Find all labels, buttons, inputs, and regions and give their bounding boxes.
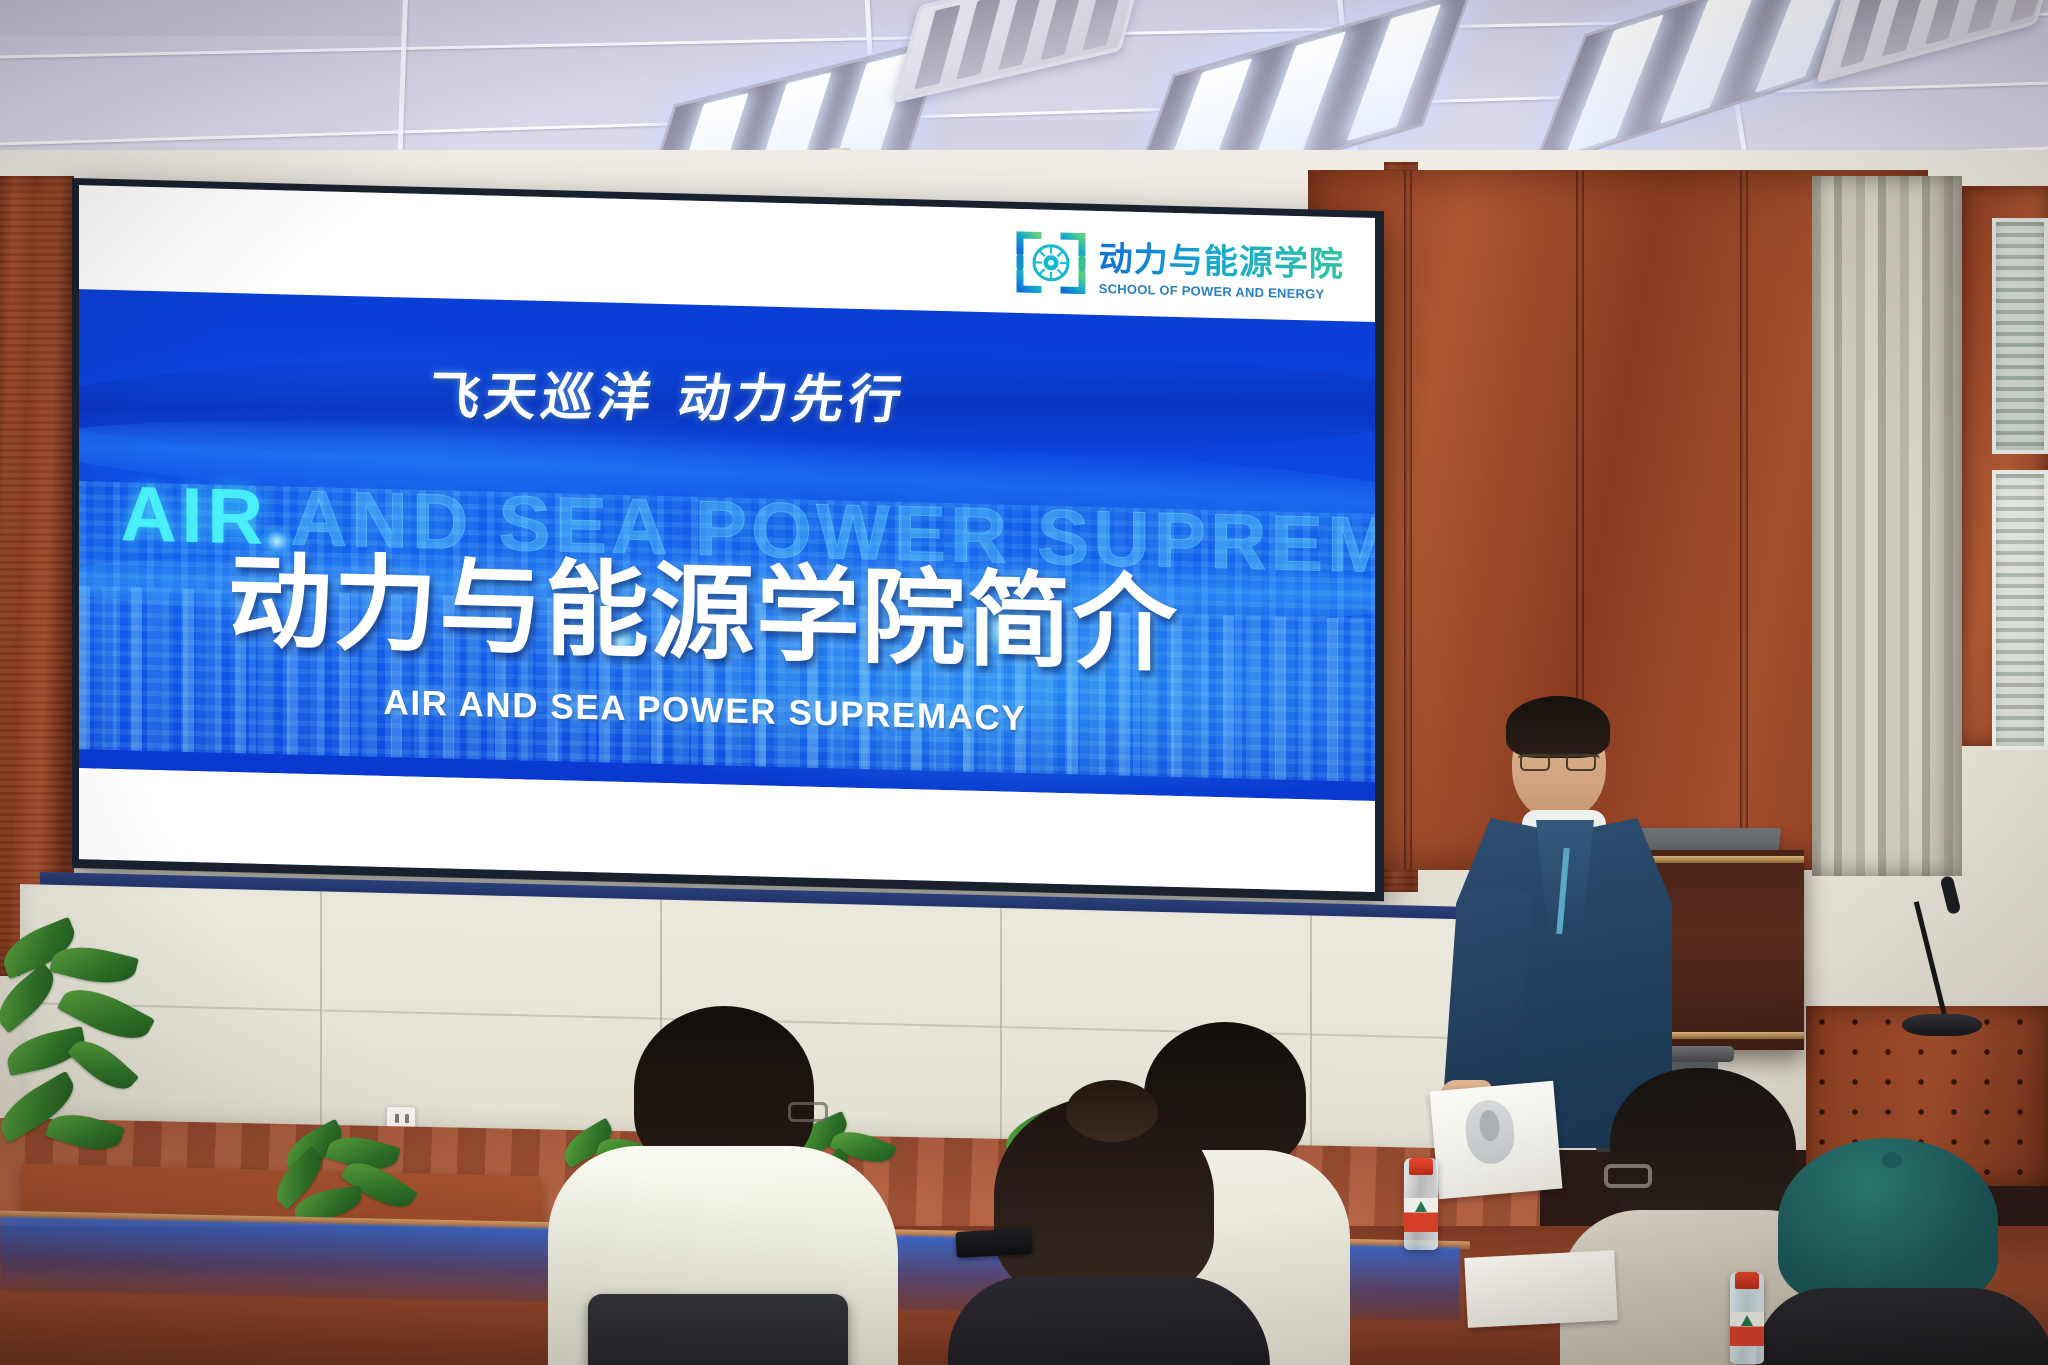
audience-shoulders [1756, 1288, 2048, 1365]
window-pane-lower [1992, 470, 2048, 750]
audience-glasses-icon [1604, 1164, 1652, 1188]
air-conditioner-vent [893, 0, 1147, 103]
fluorescent-panel-light [1531, 0, 1884, 171]
school-bracket-turbine-logo-icon [1014, 226, 1088, 298]
water-bottle[interactable] [1404, 1158, 1438, 1250]
window-curtain [1812, 176, 1962, 876]
audience-hair-bun [1066, 1080, 1158, 1142]
audience-chair [588, 1294, 848, 1365]
projection-screen-frame: 动力与能源学院 SCHOOL OF POWER AND ENERGY 飞天巡洋 … [72, 178, 1384, 901]
baseball-cap-button [1882, 1152, 1902, 1168]
slide-blue-panel: 飞天巡洋 动力先行 AIR AND SEA POWER SUPREMACY 动力… [79, 290, 1375, 801]
audience-member-green-cap [1756, 1138, 2048, 1365]
logo-chinese-name: 动力与能源学院 [1099, 231, 1344, 286]
wood-pillar-left [0, 176, 74, 976]
paper-document[interactable] [1464, 1250, 1617, 1328]
presenter-glasses-lens-left [1520, 754, 1550, 771]
audience-shoulders [948, 1276, 1270, 1365]
projected-slide[interactable]: 动力与能源学院 SCHOOL OF POWER AND ENERGY 飞天巡洋 … [79, 185, 1375, 892]
presenter-hair [1506, 696, 1610, 758]
conference-room-photo: 动力与能源学院 SCHOOL OF POWER AND ENERGY 飞天巡洋 … [0, 0, 2048, 1365]
calligraphy-motto: 飞天巡洋 动力先行 [424, 371, 1107, 428]
water-bottle[interactable] [1730, 1272, 1764, 1364]
audience-glasses-icon [788, 1102, 828, 1122]
air-conditioner-vent [1816, 0, 2048, 83]
slide-title: 动力与能源学院简介 [228, 516, 1265, 693]
school-logo: 动力与能源学院 SCHOOL OF POWER AND ENERGY [1014, 226, 1344, 304]
presenter-glasses-lens-right [1566, 754, 1596, 771]
window-pane-upper [1992, 218, 2048, 454]
audience-member-white-shirt [548, 1006, 898, 1365]
gooseneck-microphone-base [1902, 1014, 1982, 1036]
smartphone[interactable] [955, 1228, 1032, 1258]
